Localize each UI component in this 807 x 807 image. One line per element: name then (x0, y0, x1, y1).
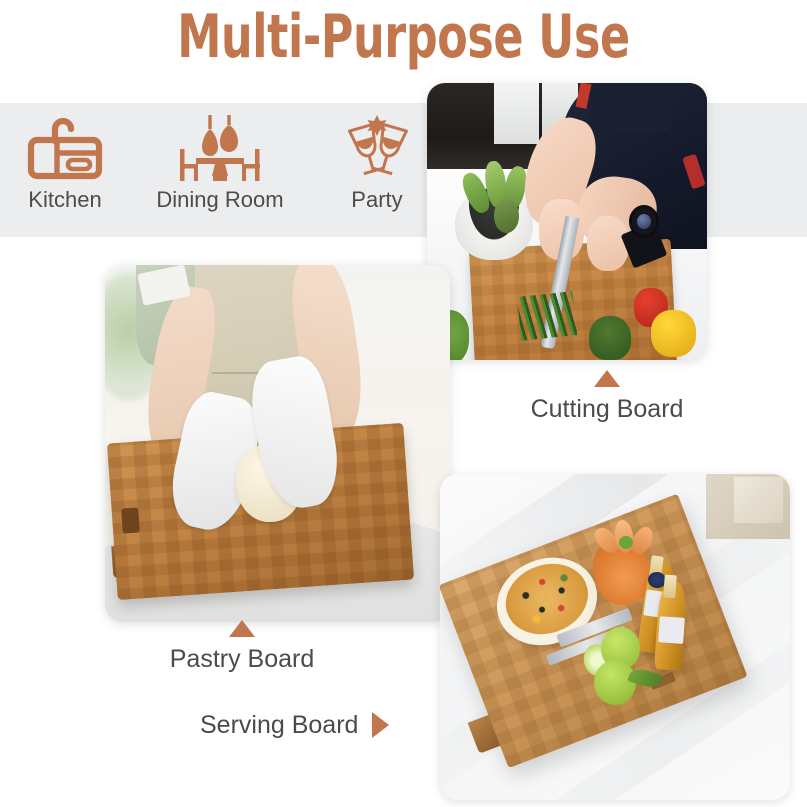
caption-pastry-board: Pastry Board (122, 620, 362, 674)
wine-glasses-cheers-icon (336, 111, 418, 185)
pastry-board-scene (105, 265, 450, 622)
infographic-canvas: Multi-Purpose Use Kitchen (0, 0, 807, 807)
triangle-up-icon (229, 620, 255, 637)
usecase-label-party: Party (351, 187, 402, 213)
photo-pastry-board (105, 265, 450, 622)
photo-serving-board (440, 474, 790, 800)
serving-board-scene (440, 474, 790, 800)
usecase-item-party: Party (336, 111, 418, 213)
cutting-board-scene (427, 83, 707, 360)
caption-cutting-board-text: Cutting Board (531, 394, 684, 424)
usecase-list: Kitchen (8, 103, 428, 237)
caption-pastry-board-text: Pastry Board (170, 644, 315, 674)
triangle-up-icon (594, 370, 620, 387)
photo-cutting-board (427, 83, 707, 360)
caption-serving-board: Serving Board (200, 710, 389, 740)
triangle-right-icon (372, 712, 389, 738)
page-title: Multi-Purpose Use (105, 6, 702, 68)
caption-serving-board-text: Serving Board (200, 710, 358, 740)
usecase-item-kitchen: Kitchen (26, 111, 104, 213)
usecase-item-dining-room: Dining Room (156, 111, 283, 213)
dining-table-icon (174, 111, 266, 185)
kitchen-sink-icon (26, 111, 104, 185)
usecase-label-dining-room: Dining Room (156, 187, 283, 213)
caption-cutting-board: Cutting Board (487, 370, 727, 424)
usecase-label-kitchen: Kitchen (28, 187, 101, 213)
